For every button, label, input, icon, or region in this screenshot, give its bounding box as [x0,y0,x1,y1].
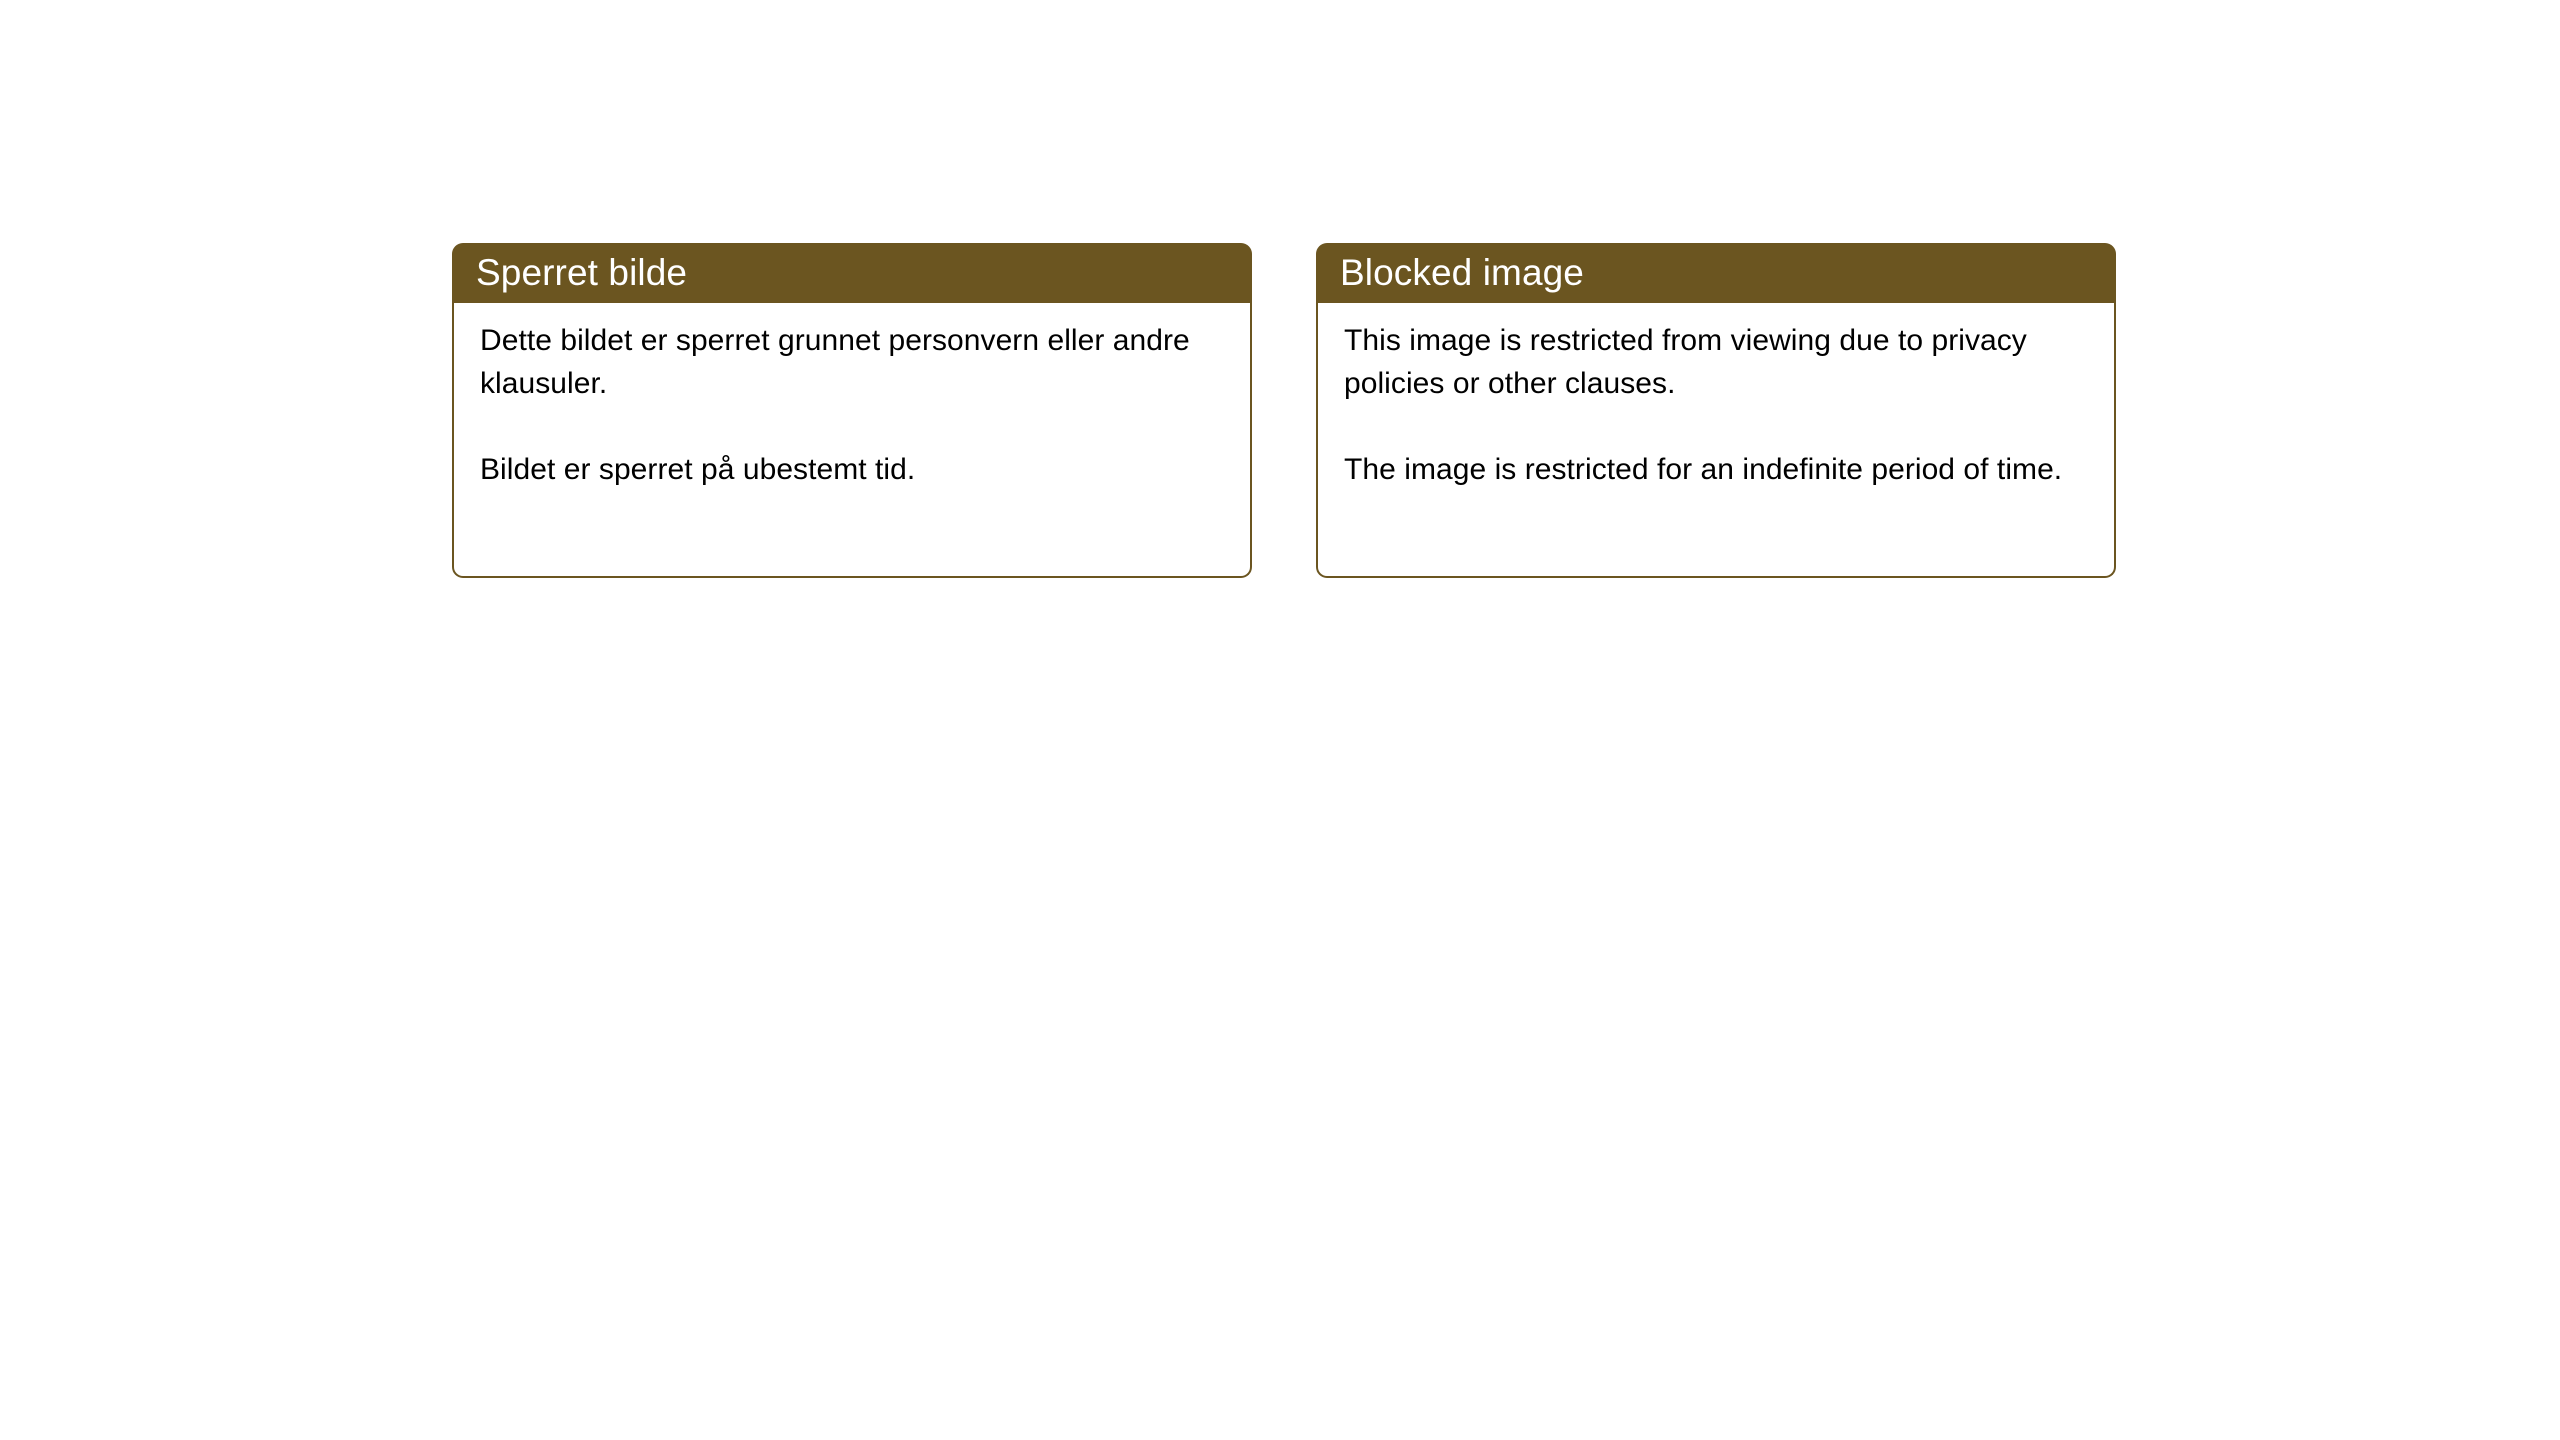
page-canvas: Sperret bilde Dette bildet er sperret gr… [0,0,2560,1440]
card-paragraph-primary-norwegian: Dette bildet er sperret grunnet personve… [480,319,1224,405]
card-header-norwegian: Sperret bilde [452,243,1252,303]
card-body-english: This image is restricted from viewing du… [1316,303,2116,578]
card-paragraph-secondary-norwegian: Bildet er sperret på ubestemt tid. [480,448,1224,491]
card-paragraph-primary-english: This image is restricted from viewing du… [1344,319,2088,405]
card-body-norwegian: Dette bildet er sperret grunnet personve… [452,303,1252,578]
paragraph-spacer [480,405,1224,448]
blocked-image-notice-card-english: Blocked image This image is restricted f… [1316,243,2116,578]
paragraph-spacer [1344,405,2088,448]
card-paragraph-secondary-english: The image is restricted for an indefinit… [1344,448,2088,491]
card-header-english: Blocked image [1316,243,2116,303]
card-title-norwegian: Sperret bilde [476,253,687,293]
card-title-english: Blocked image [1340,253,1584,293]
blocked-image-notice-card-norwegian: Sperret bilde Dette bildet er sperret gr… [452,243,1252,578]
